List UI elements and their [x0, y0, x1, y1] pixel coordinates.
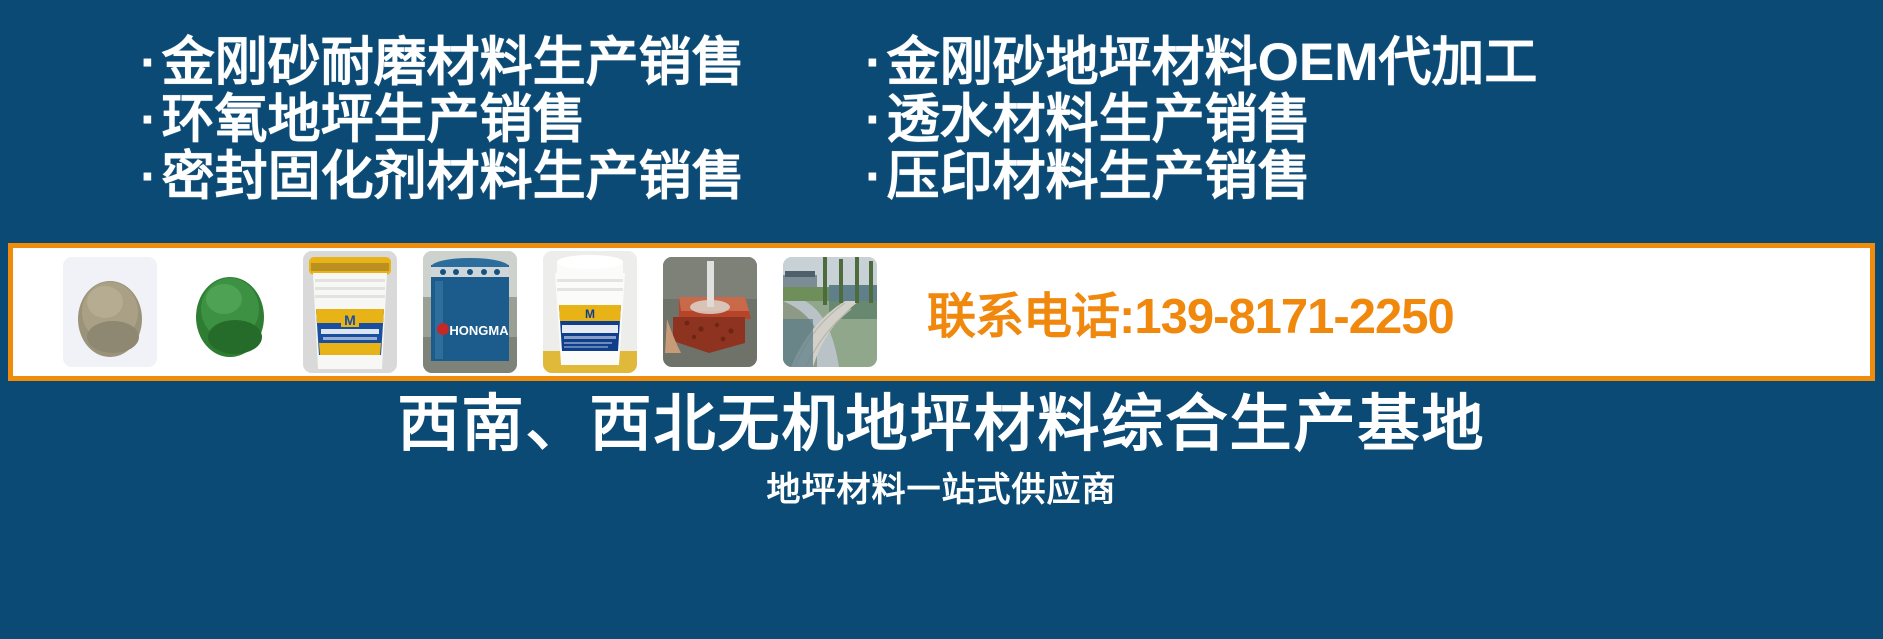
bullet-icon: ·	[865, 148, 883, 205]
advertising-banner: · 金刚砂耐磨材料生产销售 · 环氧地坪生产销售 · 密封固化剂材料生产销售 ·…	[0, 0, 1883, 639]
feature-column-left: · 金刚砂耐磨材料生产销售 · 环氧地坪生产销售 · 密封固化剂材料生产销售	[140, 34, 865, 234]
page-title: 西南、西北无机地坪材料综合生产基地	[0, 389, 1883, 461]
powder-green-icon	[183, 257, 277, 367]
bullet-icon: ·	[865, 34, 883, 91]
powder-grey-icon	[63, 257, 157, 367]
product-thumbnail-bucket-sealer: M	[303, 251, 397, 373]
permeable-concrete-red-icon	[663, 257, 757, 367]
bullet-icon: ·	[140, 148, 158, 205]
feature-lists: · 金刚砂耐磨材料生产销售 · 环氧地坪生产销售 · 密封固化剂材料生产销售 ·…	[0, 34, 1883, 234]
feature-label: 环氧地坪生产销售	[162, 91, 586, 148]
product-showcase-panel: M	[8, 243, 1875, 381]
feature-item: · 压印材料生产销售	[865, 148, 1537, 205]
feature-label: 压印材料生产销售	[887, 148, 1311, 205]
bucket-white-yellow-icon: M	[303, 251, 397, 373]
page-subtitle: 地坪材料一站式供应商	[0, 468, 1883, 512]
bucket-white-epoxy-icon: M	[543, 251, 637, 373]
product-thumbnail-powder-grey	[63, 257, 157, 367]
feature-label: 密封固化剂材料生产销售	[162, 148, 745, 205]
feature-column-right: · 金刚砂地坪材料OEM代加工 · 透水材料生产销售 · 压印材料生产销售	[865, 34, 1537, 234]
product-thumbnail-pavement-path	[783, 257, 877, 367]
contact-phone[interactable]: 联系电话:139-8171-2250	[927, 277, 1454, 348]
bullet-icon: ·	[140, 34, 158, 91]
product-thumbnail-drum-hongma: HONGMA	[423, 251, 517, 373]
drum-blue-hongma-icon: HONGMA	[423, 251, 517, 373]
feature-item: · 金刚砂耐磨材料生产销售	[140, 34, 865, 91]
bullet-icon: ·	[140, 91, 158, 148]
product-thumbnail-permeable-red	[663, 257, 757, 367]
pavement-path-icon	[783, 257, 877, 367]
feature-item: · 环氧地坪生产销售	[140, 91, 865, 148]
feature-item: · 密封固化剂材料生产销售	[140, 148, 865, 205]
svg-text:M: M	[344, 312, 356, 328]
svg-text:HONGMA: HONGMA	[449, 323, 509, 338]
feature-item: · 金刚砂地坪材料OEM代加工	[865, 34, 1537, 91]
bullet-icon: ·	[865, 91, 883, 148]
feature-item: · 透水材料生产销售	[865, 91, 1537, 148]
product-thumbnail-powder-green	[183, 257, 277, 367]
feature-label: 金刚砂地坪材料OEM代加工	[887, 34, 1538, 91]
product-thumbnail-bucket-epoxy: M	[543, 251, 637, 373]
feature-label: 金刚砂耐磨材料生产销售	[162, 34, 745, 91]
product-thumbnail-strip: M	[13, 248, 877, 376]
svg-text:M: M	[585, 307, 595, 321]
feature-label: 透水材料生产销售	[887, 91, 1311, 148]
